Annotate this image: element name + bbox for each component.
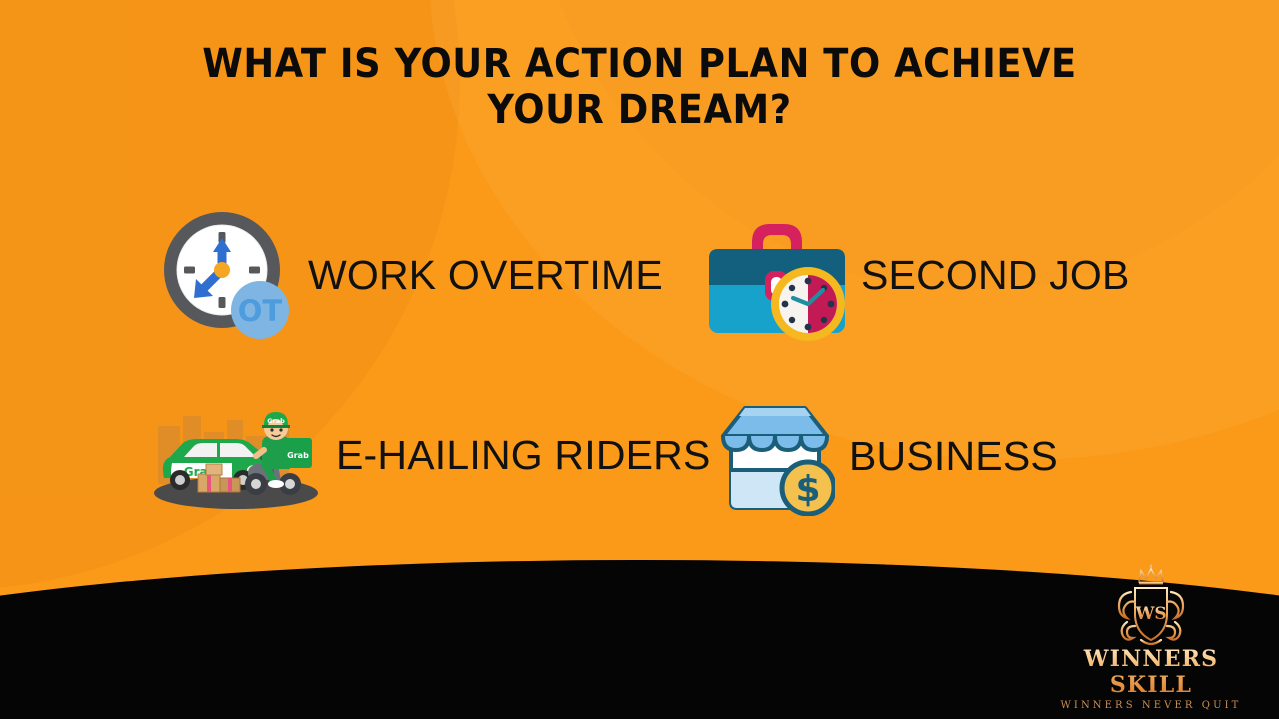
brand-logo: WS WINNERS SKILL WINNERS NEVER QUIT — [1051, 562, 1251, 711]
list-item-second-job[interactable]: SECOND JOB — [705, 208, 1130, 342]
crest-icon: WS — [1051, 562, 1251, 648]
brand-tagline: WINNERS NEVER QUIT — [1051, 700, 1251, 711]
title-line-1: WHAT IS YOUR ACTION PLAN TO ACHIEVE — [51, 44, 1228, 84]
action-plan-list: OT WORK OVERTIME — [150, 196, 1150, 541]
brand-name: WINNERS SKILL — [1051, 646, 1251, 698]
clock-overtime-icon: OT — [160, 208, 294, 342]
grab-car-rider-icon: Grab — [150, 396, 322, 514]
grab-rider: Grab Grab — [245, 412, 312, 495]
crest-monogram: WS — [1134, 604, 1166, 624]
grab-helmet-logo-text: Grab — [267, 417, 285, 425]
grab-box-logo-text: Grab — [287, 451, 309, 460]
list-item-e-hailing-riders[interactable]: Grab — [150, 396, 711, 514]
list-item-label: SECOND JOB — [861, 252, 1130, 299]
list-item-label: BUSINESS — [849, 433, 1058, 480]
dollar-sign-glyph: $ — [795, 469, 820, 510]
briefcase-clock-icon — [705, 208, 847, 342]
slide-title: WHAT IS YOUR ACTION PLAN TO ACHIEVE YOUR… — [51, 44, 1228, 136]
shop-dollar-icon: $ — [715, 396, 835, 516]
list-item-label: E-HAILING RIDERS — [336, 432, 711, 479]
slide-canvas: WHAT IS YOUR ACTION PLAN TO ACHIEVE YOUR… — [0, 0, 1279, 719]
title-line-2: YOUR DREAM? — [51, 90, 1228, 130]
clock-badge-label: OT — [238, 294, 283, 328]
list-item-work-overtime[interactable]: OT WORK OVERTIME — [160, 208, 663, 342]
list-item-label: WORK OVERTIME — [308, 252, 663, 299]
list-item-business[interactable]: $ BUSINESS — [715, 396, 1058, 516]
